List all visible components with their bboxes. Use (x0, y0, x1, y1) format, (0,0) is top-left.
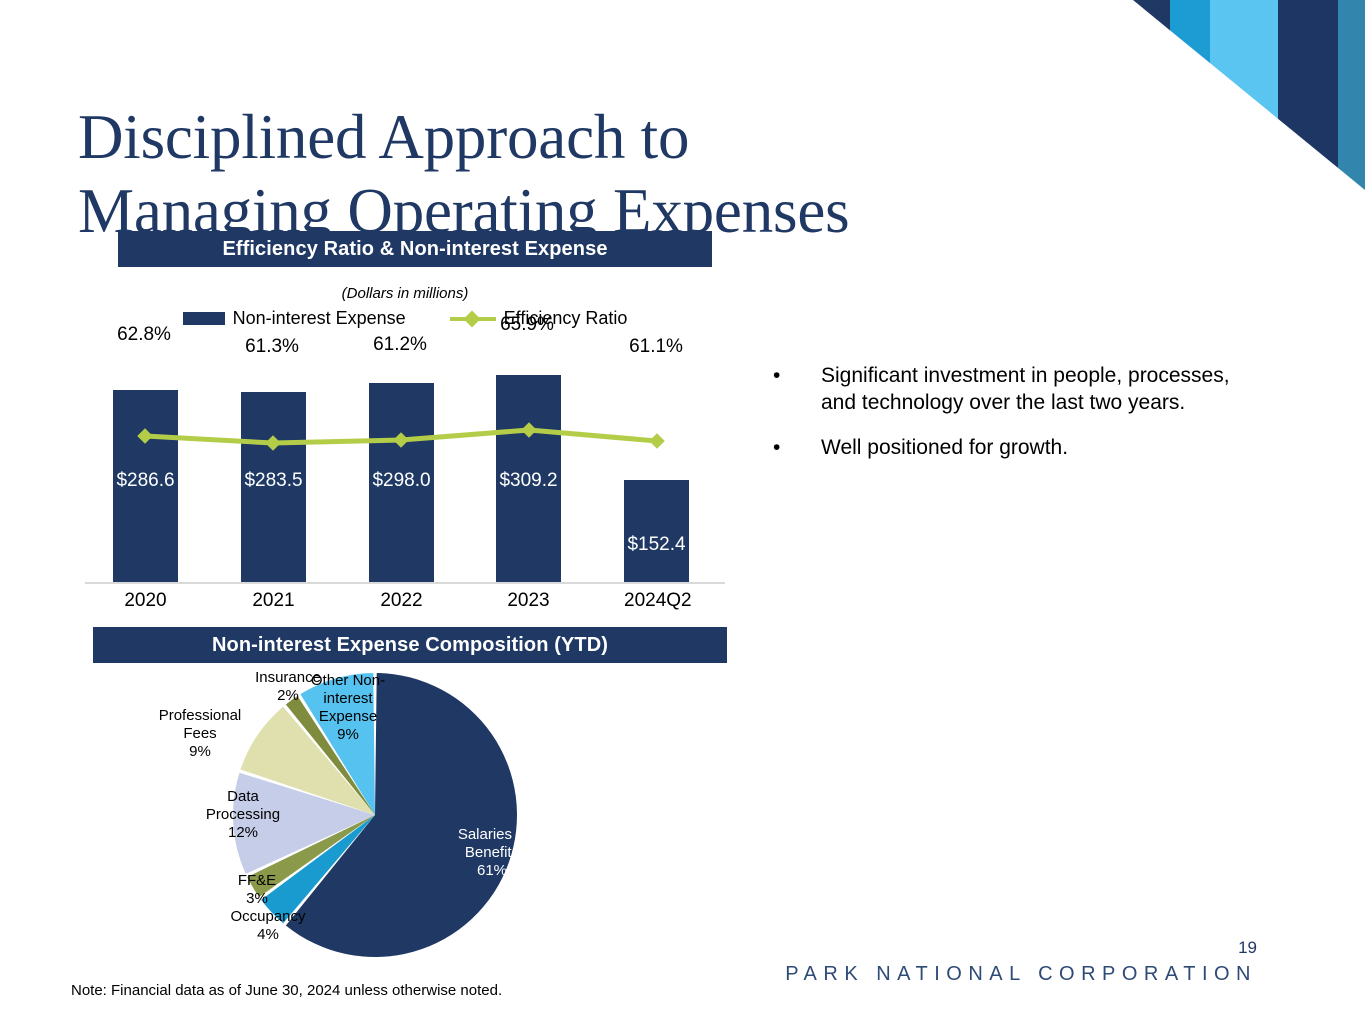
stripe-medium-blue (1170, 0, 1210, 190)
bar-plot-area: $286.6$283.5$298.0$309.2$152.4 62.8%61.3… (85, 334, 725, 584)
stripe-dark-navy-1 (1133, 0, 1170, 190)
efficiency-ratio-label-2020: 62.8% (94, 324, 194, 346)
bullet-text-2: Well positioned for growth. (821, 434, 1068, 461)
efficiency-ratio-line (85, 334, 725, 584)
bullet-list: • Significant investment in people, proc… (773, 362, 1253, 479)
list-item: • Well positioned for growth. (773, 434, 1253, 461)
pie-label-other: Other Non- interest Expense 9% (303, 672, 393, 744)
page-title-line-1: Disciplined Approach to (78, 100, 1078, 174)
page-title: Disciplined Approach to Managing Operati… (78, 100, 1078, 248)
slide-canvas: Disciplined Approach to Managing Operati… (0, 0, 1365, 1024)
corner-stripes-svg (1115, 0, 1365, 190)
expense-composition-pie-chart: Salaries & Benefits 61%Occupancy 4%FF&E … (85, 663, 725, 963)
ratio-marker-2021 (265, 435, 281, 451)
efficiency-ratio-label-2023: 65.9% (477, 314, 577, 336)
ratio-marker-2023 (521, 422, 537, 438)
x-tick-2021: 2021 (241, 590, 306, 612)
efficiency-ratio-chart: (Dollars in millions) Non-interest Expen… (85, 272, 725, 617)
x-axis-labels: 20202021202220232024Q2 (85, 590, 725, 616)
bullet-marker-icon: • (773, 434, 821, 461)
pie-label-ffe: FF&E 3% (212, 872, 302, 908)
pie-label-professional-fees: Professional Fees 9% (130, 707, 270, 761)
efficiency-ratio-label-2021: 61.3% (222, 336, 322, 358)
pie-label-occupancy: Occupancy 4% (203, 908, 333, 944)
page-number: 19 (1238, 938, 1257, 958)
efficiency-ratio-label-2024q2: 61.1% (606, 336, 706, 358)
bullet-marker-icon: • (773, 362, 821, 389)
x-tick-2022: 2022 (369, 590, 434, 612)
legend-label-non-interest-expense: Non-interest Expense (233, 308, 406, 329)
footnote: Note: Financial data as of June 30, 2024… (71, 982, 502, 999)
stripe-light-sky (1210, 0, 1278, 190)
x-tick-2024q2: 2024Q2 (624, 590, 689, 612)
units-note: (Dollars in millions) (85, 285, 725, 302)
x-tick-2023: 2023 (496, 590, 561, 612)
x-tick-2020: 2020 (113, 590, 178, 612)
efficiency-ratio-label-2022: 61.2% (350, 334, 450, 356)
list-item: • Significant investment in people, proc… (773, 362, 1253, 416)
ratio-marker-2020 (137, 428, 153, 444)
pie-label-salaries: Salaries & Benefits 61% (427, 826, 557, 880)
stripe-dark-navy-2 (1278, 0, 1338, 190)
legend-item-non-interest-expense: Non-interest Expense (183, 308, 406, 329)
brand-footer: PARK NATIONAL CORPORATION (785, 963, 1257, 986)
efficiency-panel-header: Efficiency Ratio & Non-interest Expense (118, 231, 712, 267)
pie-label-data-processing: Data Processing 12% (188, 788, 298, 842)
corner-stripe-graphic (1115, 0, 1365, 190)
bullet-text-1: Significant investment in people, proces… (821, 362, 1253, 416)
stripe-steel-blue (1338, 0, 1365, 190)
ratio-marker-2024q2 (649, 433, 665, 449)
ratio-marker-2022 (393, 432, 409, 448)
x-axis-line (85, 582, 725, 584)
composition-panel-header: Non-interest Expense Composition (YTD) (93, 627, 727, 663)
